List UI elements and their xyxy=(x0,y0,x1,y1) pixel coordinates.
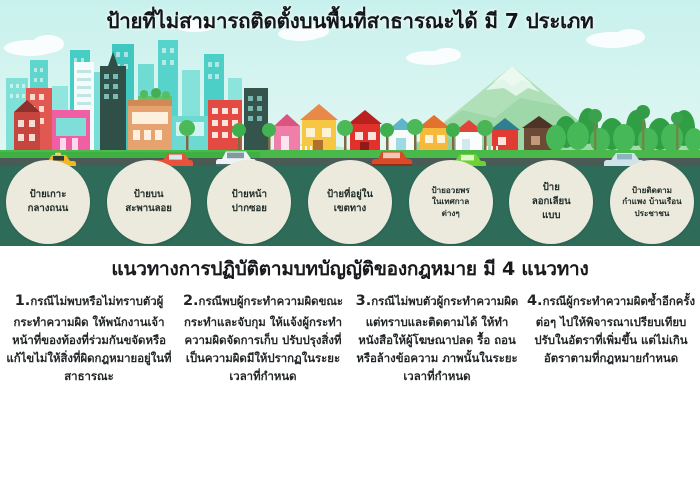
badge-line: ประชาชน xyxy=(634,208,669,219)
guideline-columns: 1.กรณีไม่พบหรือไม่ทราบตัวผู้กระทำความผิด… xyxy=(4,290,696,385)
badge-line: ป้ายหน้า xyxy=(232,188,267,202)
guideline-number: 2. xyxy=(183,293,199,309)
guidelines-section: แนวทางการปฏิบัติตามบทบัญญัติของกฎหมาย มี… xyxy=(0,246,700,494)
badge-line: เขตทาง xyxy=(334,202,366,216)
badge-line: แบบ xyxy=(542,209,560,223)
guideline-text: กรณีพบผู้กระทำความผิดขณะกระทำและจับกุม ใ… xyxy=(184,294,343,383)
badge-line: ป้ายบน xyxy=(134,188,164,202)
badge-sign-at-alley-mouth[interactable]: ป้ายหน้า ปากซอย xyxy=(207,160,291,244)
guideline-number: 1. xyxy=(15,293,31,309)
badge-line: ป้ายเกาะ xyxy=(30,188,67,202)
guideline-item-3: 3.กรณีไม่พบตัวผู้กระทำความผิดแต่ทราบและต… xyxy=(352,290,522,385)
badge-line: สะพานลอย xyxy=(125,202,172,216)
badge-sign-in-road-zone[interactable]: ป้ายที่อยู่ใน เขตทาง xyxy=(308,160,392,244)
badge-line: ป้ายอวยพร xyxy=(431,185,469,196)
guideline-item-4: 4.กรณีผู้กระทำความผิดซ้ำอีกครั้ง ต่อๆ ไป… xyxy=(526,290,696,385)
badge-sign-on-walls-houses[interactable]: ป้ายติดตาม กำแพง บ้านเรือน ประชาชน xyxy=(610,160,694,244)
badge-line: ปากซอย xyxy=(232,202,267,216)
badge-line: ลอกเลียน xyxy=(532,195,571,209)
guideline-text: กรณีผู้กระทำความผิดซ้ำอีกครั้ง ต่อๆ ไปให… xyxy=(534,294,695,365)
guideline-item-2: 2.กรณีพบผู้กระทำความผิดขณะกระทำและจับกุม… xyxy=(178,290,348,385)
section-heading: แนวทางการปฏิบัติตามบทบัญญัติของกฎหมาย มี… xyxy=(0,254,700,284)
hero-title-band: ป้ายที่ไม่สามารถติดตั้งบนพื้นที่สาธารณะไ… xyxy=(0,4,700,38)
guideline-text: กรณีไม่พบหรือไม่ทราบตัวผู้กระทำความผิด ใ… xyxy=(6,294,171,383)
sign-type-badge-row: ป้ายเกาะ กลางถนน ป้ายบน สะพานลอย ป้ายหน้… xyxy=(0,160,700,250)
guideline-number: 3. xyxy=(356,293,372,309)
infographic-page: ป้ายที่ไม่สามารถติดตั้งบนพื้นที่สาธารณะไ… xyxy=(0,0,700,494)
page-title: ป้ายที่ไม่สามารถติดตั้งบนพื้นที่สาธารณะไ… xyxy=(106,5,593,38)
badge-sign-festival-greeting[interactable]: ป้ายอวยพร ในเทศกาล ต่างๆ xyxy=(409,160,493,244)
badge-sign-imitation[interactable]: ป้าย ลอกเลียน แบบ xyxy=(509,160,593,244)
badge-line: กลางถนน xyxy=(28,202,69,216)
badge-line: ป้ายที่อยู่ใน xyxy=(327,188,373,202)
badge-sign-median-island[interactable]: ป้ายเกาะ กลางถนน xyxy=(6,160,90,244)
guideline-number: 4. xyxy=(527,293,543,309)
guideline-text: กรณีไม่พบตัวผู้กระทำความผิดแต่ทราบและติด… xyxy=(356,294,518,383)
badge-sign-on-footbridge[interactable]: ป้ายบน สะพานลอย xyxy=(107,160,191,244)
badge-line: กำแพง บ้านเรือน xyxy=(622,196,682,207)
badge-line: ป้ายติดตาม xyxy=(632,185,672,196)
guideline-item-1: 1.กรณีไม่พบหรือไม่ทราบตัวผู้กระทำความผิด… xyxy=(4,290,174,385)
badge-line: ต่างๆ xyxy=(442,208,460,219)
badge-line: ป้าย xyxy=(543,181,560,195)
badge-line: ในเทศกาล xyxy=(432,196,469,207)
